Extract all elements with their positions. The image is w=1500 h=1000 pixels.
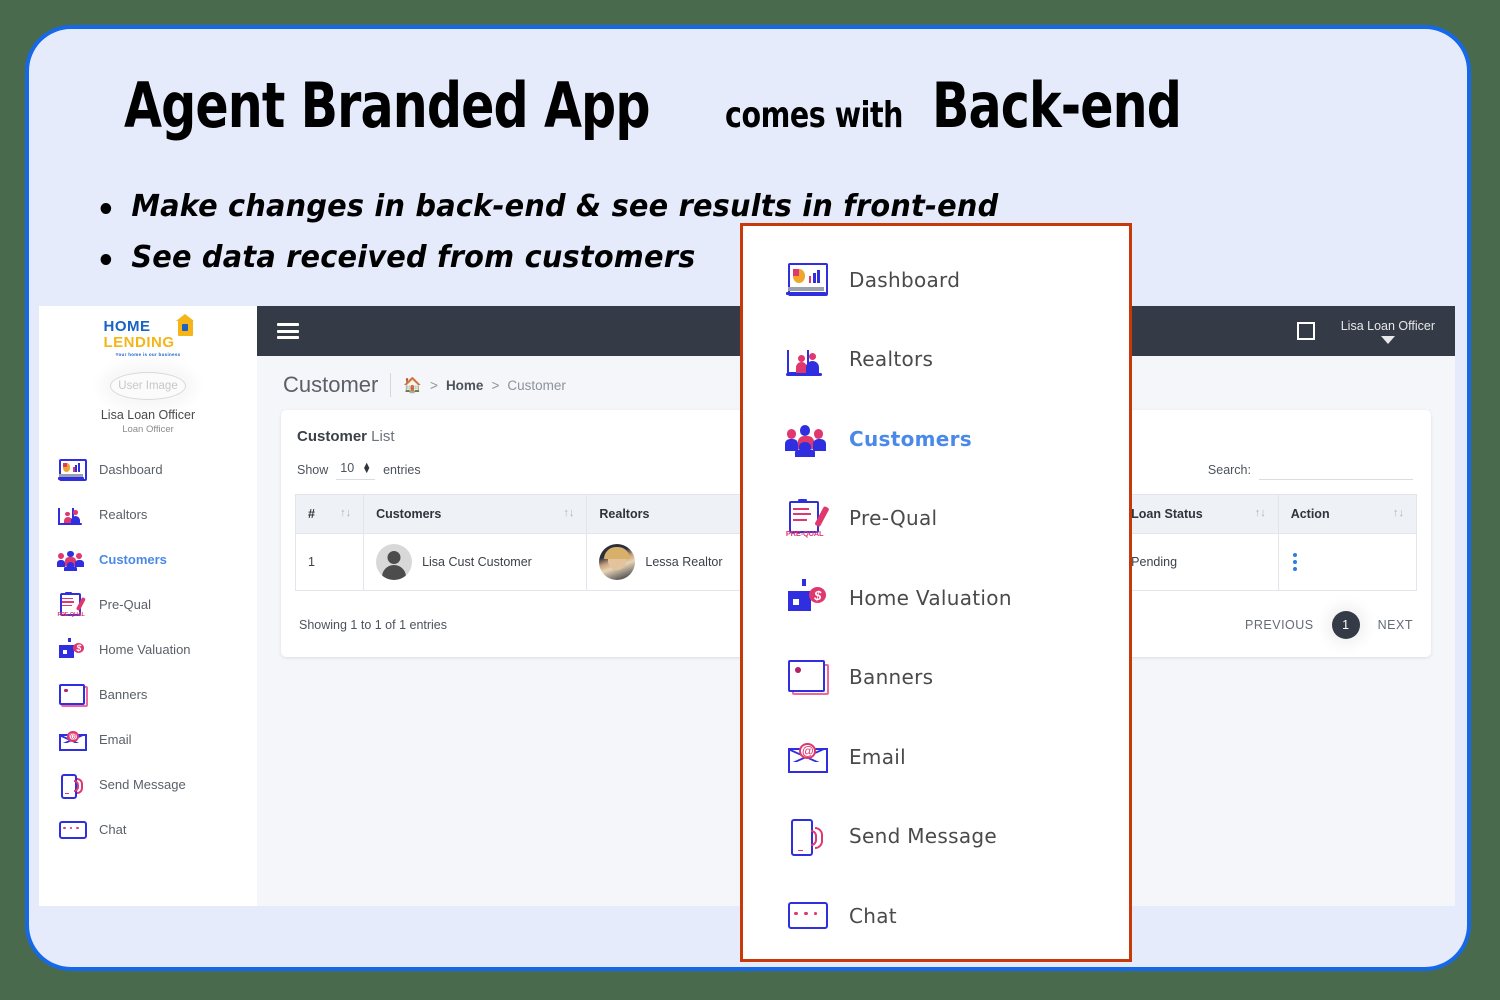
email-icon: @	[785, 737, 827, 777]
sidebar-item-label: Realtors	[99, 507, 147, 522]
bullet-item: Make changes in back-end & see results i…	[91, 189, 1099, 224]
breadcrumb-current: Customer	[507, 378, 566, 393]
callout-item-pre-qual[interactable]: PRE-QUAL Pre-Qual	[743, 479, 1129, 559]
length-label-after: entries	[383, 463, 421, 477]
callout-item-email[interactable]: @ Email	[743, 717, 1129, 797]
topbar-user-menu[interactable]: Lisa Loan Officer	[1341, 319, 1435, 344]
hamburger-icon[interactable]	[277, 323, 299, 339]
customers-icon	[785, 419, 827, 459]
realtors-icon	[57, 502, 85, 528]
breadcrumb-separator: >	[430, 378, 438, 393]
slide-stage: Agent Branded Appcomes withBack-end Make…	[0, 0, 1500, 1000]
sidebar-item-dashboard[interactable]: Dashboard	[39, 447, 257, 492]
callout-item-chat[interactable]: Chat	[743, 876, 1129, 956]
chat-icon	[57, 817, 85, 843]
kebab-menu-icon[interactable]	[1291, 553, 1404, 571]
sidebar-item-label: Dashboard	[99, 462, 163, 477]
headline-part-1: Agent Branded App	[124, 69, 650, 142]
callout-menu-panel: Dashboard Realtors	[740, 223, 1132, 962]
prequal-icon: PRE-QUAL	[57, 592, 85, 618]
callout-item-customers[interactable]: Customers	[743, 399, 1129, 479]
chevron-updown-icon: ▲▼	[362, 463, 371, 473]
avatar	[599, 544, 635, 580]
cell-loan-status: Pending	[1119, 534, 1279, 591]
callout-item-realtors[interactable]: Realtors	[743, 320, 1129, 400]
column-header-customers[interactable]: Customers↑↓	[364, 495, 587, 534]
callout-item-label: Pre-Qual	[849, 506, 937, 530]
chevron-down-icon	[1381, 336, 1395, 344]
prequal-icon: PRE-QUAL	[785, 498, 827, 538]
length-select[interactable]: 10 ▲▼	[336, 459, 375, 480]
home-valuation-icon: $	[57, 637, 85, 663]
callout-item-banners[interactable]: Banners	[743, 638, 1129, 718]
avatar	[376, 544, 412, 580]
sort-icon: ↑↓	[340, 507, 351, 519]
headline-part-2: comes with	[725, 95, 903, 136]
callout-item-label: Banners	[849, 665, 933, 689]
table-info: Showing 1 to 1 of 1 entries	[299, 618, 447, 632]
callout-item-label: Home Valuation	[849, 586, 1012, 610]
fullscreen-icon[interactable]	[1297, 322, 1315, 340]
logo-text-lending: LENDING	[104, 335, 175, 350]
sidebar-item-label: Chat	[99, 822, 126, 837]
profile-role: Loan Officer	[39, 424, 257, 435]
email-icon: @	[57, 727, 85, 753]
sidebar-item-email[interactable]: @ Email	[39, 717, 257, 762]
table-length-control: Show 10 ▲▼ entries	[295, 459, 421, 480]
search-input[interactable]	[1259, 459, 1413, 480]
pagination-previous[interactable]: PREVIOUS	[1245, 618, 1314, 632]
card-title-rest: List	[367, 428, 395, 445]
prequal-icon-caption: PRE-QUAL	[786, 529, 824, 538]
sidebar-item-label: Email	[99, 732, 132, 747]
cell-customer-name: Lisa Cust Customer	[422, 555, 532, 569]
column-header-action[interactable]: Action↑↓	[1278, 495, 1416, 534]
column-header-loan-status[interactable]: Loan Status↑↓	[1119, 495, 1279, 534]
dashboard-icon	[785, 260, 827, 300]
customers-icon	[57, 547, 85, 573]
sidebar-item-label: Banners	[99, 687, 147, 702]
callout-item-send-message[interactable]: Send Message	[743, 797, 1129, 877]
app-sidebar: HOME LENDING Your home is our business U…	[39, 306, 257, 906]
table-search-control: Search:	[1208, 459, 1417, 480]
breadcrumb-separator: >	[491, 378, 499, 393]
banners-icon	[785, 657, 827, 697]
cell-action	[1278, 534, 1416, 591]
length-select-value: 10	[340, 461, 354, 475]
cell-customer: Lisa Cust Customer	[364, 534, 587, 591]
callout-item-label: Chat	[849, 904, 897, 928]
pagination-next[interactable]: NEXT	[1378, 618, 1413, 632]
search-label: Search:	[1208, 463, 1251, 477]
profile-name: Lisa Loan Officer	[39, 408, 257, 422]
sidebar-item-label: Customers	[99, 552, 167, 567]
card-title-bold: Customer	[297, 428, 367, 445]
sidebar-item-label: Home Valuation	[99, 642, 191, 657]
home-icon[interactable]: 🏠	[403, 376, 422, 394]
callout-item-label: Email	[849, 745, 906, 769]
callout-item-home-valuation[interactable]: $ Home Valuation	[743, 558, 1129, 638]
send-message-icon	[785, 816, 827, 856]
cell-index: 1	[296, 534, 364, 591]
logo-tagline: Your home is our business	[116, 352, 181, 357]
sort-icon: ↑↓	[563, 507, 574, 519]
pagination: PREVIOUS 1 NEXT	[1245, 611, 1413, 639]
sort-icon: ↑↓	[1393, 507, 1404, 519]
sidebar-item-pre-qual[interactable]: PRE-QUAL Pre-Qual	[39, 582, 257, 627]
brand-logo[interactable]: HOME LENDING Your home is our business	[39, 314, 257, 362]
breadcrumb-home-link[interactable]: Home	[446, 378, 484, 393]
sort-icon: ↑↓	[1255, 507, 1266, 519]
page-title: Customer	[283, 372, 378, 398]
sidebar-item-banners[interactable]: Banners	[39, 672, 257, 717]
callout-item-dashboard[interactable]: Dashboard	[743, 240, 1129, 320]
sidebar-profile: User Image Lisa Loan Officer Loan Office…	[39, 372, 257, 435]
banners-icon	[57, 682, 85, 708]
topbar-user-name: Lisa Loan Officer	[1341, 319, 1435, 333]
sidebar-item-label: Send Message	[99, 777, 186, 792]
avatar[interactable]: User Image	[110, 372, 186, 400]
sidebar-item-send-message[interactable]: Send Message	[39, 762, 257, 807]
sidebar-item-home-valuation[interactable]: $ Home Valuation	[39, 627, 257, 672]
breadcrumb-divider	[390, 373, 391, 397]
dashboard-icon	[57, 457, 85, 483]
length-label-before: Show	[297, 463, 328, 477]
prequal-icon-caption: PRE-QUAL	[58, 612, 85, 618]
logo-text-home: HOME	[104, 319, 151, 334]
home-valuation-icon: $	[785, 578, 827, 618]
column-header-index[interactable]: #↑↓	[296, 495, 364, 534]
callout-item-label: Customers	[849, 427, 972, 451]
chat-icon	[785, 896, 827, 936]
callout-item-label: Dashboard	[849, 268, 960, 292]
cell-realtor-name: Lessa Realtor	[645, 555, 722, 569]
sidebar-nav: Dashboard Realtors	[39, 447, 257, 852]
sidebar-item-chat[interactable]: Chat	[39, 807, 257, 852]
callout-item-label: Send Message	[849, 824, 997, 848]
slide-card: Agent Branded Appcomes withBack-end Make…	[25, 25, 1471, 971]
sidebar-item-label: Pre-Qual	[99, 597, 151, 612]
realtors-icon	[785, 339, 827, 379]
send-message-icon	[57, 772, 85, 798]
callout-item-label: Realtors	[849, 347, 933, 371]
sidebar-item-customers[interactable]: Customers	[39, 537, 257, 582]
slide-headline: Agent Branded Appcomes withBack-end	[124, 69, 1324, 142]
house-icon	[178, 320, 193, 336]
sidebar-item-realtors[interactable]: Realtors	[39, 492, 257, 537]
headline-part-3: Back-end	[932, 69, 1181, 142]
pagination-page-1[interactable]: 1	[1332, 611, 1360, 639]
